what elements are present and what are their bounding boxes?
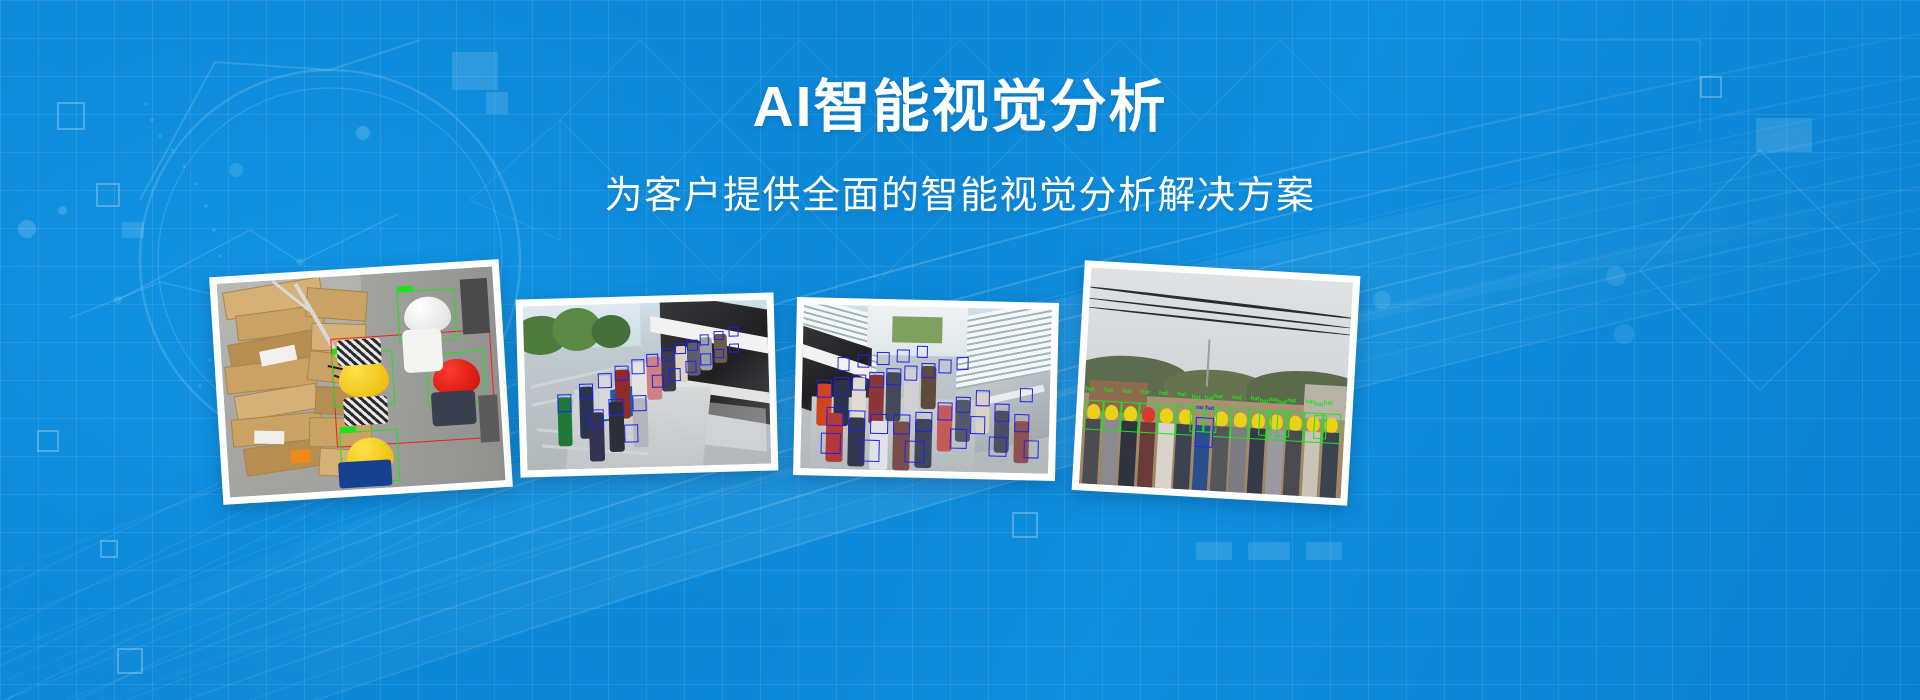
face-box (668, 368, 681, 381)
face-box (728, 327, 738, 337)
gallery-photo-hardhat-detection[interactable]: hat hat hat hat hat hat hat hat (1072, 260, 1361, 506)
face-box (975, 390, 990, 407)
hardhat-label: hat (1086, 386, 1095, 393)
tool-item (291, 450, 311, 464)
hardhat-label: hat (1140, 389, 1149, 396)
face-box (700, 354, 711, 366)
banner-text-block: AI智能视觉分析 为客户提供全面的智能视觉分析解决方案 (0, 78, 1920, 219)
face-box (848, 410, 866, 430)
face-box (579, 383, 594, 400)
shelf-clutter (460, 278, 491, 335)
face-box (826, 406, 844, 426)
hardhat-label: hat (1305, 399, 1314, 406)
outdoor-view (892, 316, 942, 343)
dot-accent-2 (18, 220, 36, 238)
hardhat-label: hat (1250, 396, 1259, 403)
face-box (904, 441, 924, 463)
face-box (857, 355, 870, 368)
face-box (646, 354, 659, 367)
face-box (714, 348, 724, 358)
scene-platform-crowd (800, 304, 1052, 474)
hardhat-label: hat (1287, 398, 1296, 405)
hardhat-label: hat (1204, 395, 1213, 402)
face-box (877, 352, 890, 365)
face-box (1020, 388, 1033, 403)
hardhat-label: hat (1191, 395, 1200, 402)
paper-sheet (254, 430, 285, 444)
face-box (729, 343, 739, 353)
face-box (652, 375, 665, 388)
gallery-photo-platform-crowd[interactable] (793, 297, 1059, 481)
face-box (632, 359, 645, 374)
page-title: AI智能视觉分析 (0, 78, 1920, 138)
page-subtitle: 为客户提供全面的智能视觉分析解决方案 (0, 164, 1920, 219)
face-box (598, 373, 612, 388)
face-box (615, 366, 629, 381)
face-box (869, 371, 884, 388)
scene-outdoor-workers: hat hat hat hat hat hat hat hat (1079, 268, 1353, 499)
face-box (699, 334, 709, 346)
person-clothing (431, 390, 477, 427)
face-box (917, 346, 928, 358)
hardhat-label: hat (1232, 395, 1241, 402)
no-hardhat-label: no hat (1196, 405, 1214, 412)
face-box (893, 414, 911, 434)
photo-frame-inner (800, 304, 1052, 474)
square-filled-3 (122, 222, 144, 238)
hardhat-label: hat (1104, 387, 1113, 394)
face-box (915, 412, 933, 432)
face-box (624, 425, 639, 443)
hardhat-label: hat (1214, 394, 1223, 401)
face-box (852, 374, 867, 391)
hardhat-box (1258, 411, 1272, 435)
hardhat-box (1157, 403, 1177, 434)
face-box (870, 414, 888, 434)
face-box (989, 436, 1007, 456)
hardhat-box (1138, 402, 1158, 433)
hardhat-box (1276, 412, 1290, 436)
face-box (820, 433, 840, 455)
no-hardhat-box (1194, 416, 1214, 447)
photo-frame-inner (523, 300, 771, 471)
hardhat-box (1102, 400, 1122, 431)
face-box (860, 440, 880, 462)
gallery-photo-bridge-crowd[interactable] (516, 292, 779, 477)
face-box (886, 368, 901, 385)
face-box (949, 429, 967, 449)
photo-frame-inner (217, 267, 506, 498)
face-box (956, 357, 969, 370)
face-box (1024, 440, 1039, 458)
hardhat-label: hat (1159, 391, 1168, 398)
face-box (837, 357, 850, 370)
face-box (661, 348, 674, 361)
face-box (608, 399, 623, 416)
hardhat-label: hat (1259, 398, 1268, 405)
face-box (817, 380, 832, 398)
square-outline-5 (100, 540, 118, 558)
person-clothing (402, 328, 443, 373)
hardhat-label: hat (1177, 392, 1186, 399)
person-clothing (338, 459, 392, 488)
face-box (1014, 414, 1029, 432)
hardhat-label: hat (1269, 397, 1278, 404)
face-box (687, 339, 698, 351)
person-clothing (336, 338, 382, 366)
face-box (685, 361, 696, 373)
photo-frame-inner: hat hat hat hat hat hat hat hat (1079, 268, 1353, 499)
square-outline-4 (117, 648, 143, 674)
scene-warehouse-overhead (217, 267, 506, 498)
shelf-clutter (478, 395, 500, 443)
face-box (995, 404, 1010, 422)
ai-vision-banner: AI智能视觉分析 为客户提供全面的智能视觉分析解决方案 (0, 0, 1920, 700)
face-box (904, 366, 918, 381)
hardhat-box (1230, 408, 1250, 439)
face-box (834, 377, 849, 395)
hardhat-box (1120, 401, 1140, 432)
hardhat-label: hat (1324, 400, 1333, 407)
face-box (589, 409, 604, 427)
face-box (970, 416, 985, 434)
face-box (714, 330, 724, 340)
hardhat-label: hat (1122, 388, 1131, 395)
hardhat-label: hat (1278, 400, 1287, 407)
gallery-strip: hat hat hat hat hat hat hat hat (0, 252, 1920, 542)
face-box (557, 394, 572, 412)
face-box (675, 343, 686, 355)
gallery-photo-warehouse[interactable] (209, 259, 513, 505)
hardhat-box (1313, 415, 1327, 439)
face-box (955, 396, 970, 413)
hardhat-box (1083, 399, 1103, 430)
face-box (633, 395, 647, 412)
face-box (897, 349, 910, 362)
scene-bridge-crowd (523, 300, 771, 471)
face-box (939, 360, 952, 373)
hardhat-label: hat (1314, 402, 1323, 409)
person-clothing (343, 395, 389, 426)
face-box (938, 402, 953, 420)
face-box (921, 363, 935, 378)
